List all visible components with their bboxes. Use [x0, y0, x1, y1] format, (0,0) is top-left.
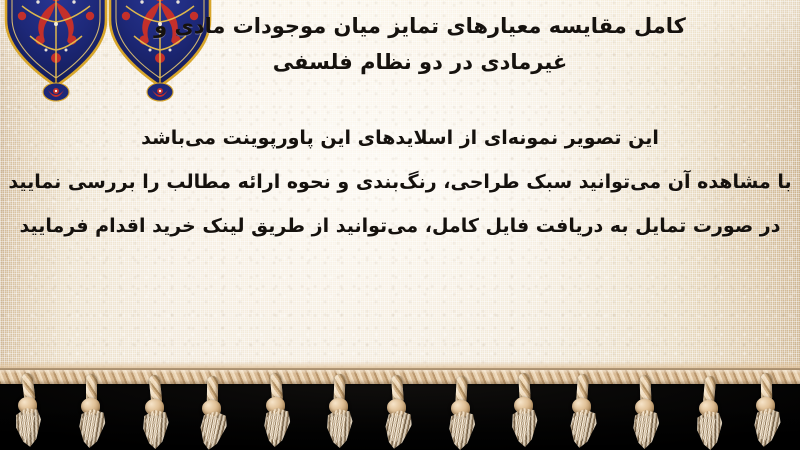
- tassel: [568, 374, 598, 448]
- tassel: [141, 375, 171, 449]
- page-title-line-2: غیرمادی در دو نظام فلسفی: [70, 44, 770, 80]
- tassel: [262, 373, 292, 447]
- page-title: کامل مقایسه معیارهای تمایز میان موجودات …: [70, 8, 770, 80]
- body-line-1: این تصویر نمونه‌ای از اسلایدهای این پاور…: [0, 116, 800, 160]
- tassel: [325, 374, 355, 448]
- tassel: [510, 373, 540, 447]
- tassel: [198, 376, 228, 450]
- body-line-3: در صورت تمایل به دریافت فایل کامل، می‌تو…: [0, 204, 800, 248]
- tassel: [383, 375, 413, 449]
- page-title-line-1: کامل مقایسه معیارهای تمایز میان موجودات …: [70, 8, 770, 44]
- tassel: [77, 374, 107, 448]
- tassel: [447, 376, 477, 450]
- body-line-2: با مشاهده آن می‌توانید سبک طراحی، رنگ‌بن…: [0, 160, 800, 204]
- slide-canvas: کامل مقایسه معیارهای تمایز میان موجودات …: [0, 0, 800, 450]
- slide-body: این تصویر نمونه‌ای از اسلایدهای این پاور…: [0, 116, 800, 248]
- tassel: [631, 375, 661, 449]
- tassel: [752, 373, 782, 447]
- tassel: [14, 373, 44, 447]
- tassel: [695, 376, 725, 450]
